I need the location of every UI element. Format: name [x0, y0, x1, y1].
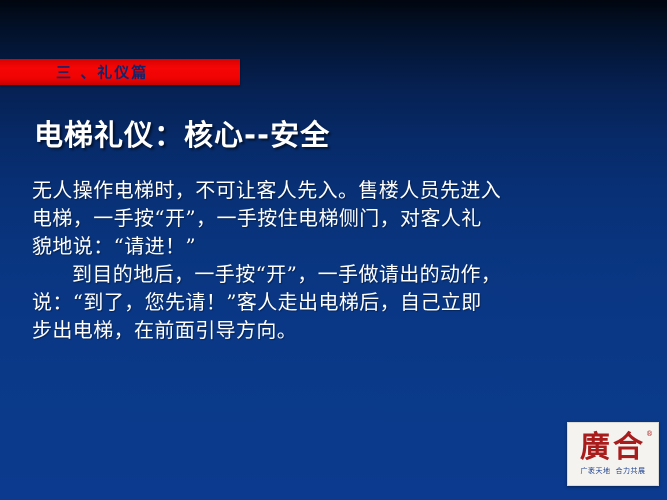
section-banner-label: 三 、礼仪篇 [56, 62, 148, 83]
body-text: 无人操作电梯时，不可让客人先入。售楼人员先进入 电梯，一手按“开”，一手按住电梯… [32, 176, 644, 344]
logo-wordmark: 廣合 ® [580, 432, 646, 464]
page-title: 电梯礼仪：核心--安全 [34, 112, 330, 154]
logo-wordmark-text: 廣合 [580, 430, 646, 465]
body-line: 到目的地后，一手按“开”，一手做请出的动作， [32, 260, 644, 288]
body-line: 貌地说：“请进！” [32, 232, 644, 260]
body-line: 步出电梯，在前面引导方向。 [32, 316, 644, 344]
company-logo: 廣合 ® 广袤天地合力共展 [567, 422, 659, 486]
logo-tagline-right: 合力共展 [616, 467, 646, 475]
body-line: 说：“到了，您先请！”客人走出电梯后，自己立即 [32, 288, 644, 316]
logo-tagline-left: 广袤天地 [581, 467, 611, 475]
registered-trademark-icon: ® [646, 431, 653, 438]
presentation-slide: 三 、礼仪篇 电梯礼仪：核心--安全 无人操作电梯时，不可让客人先入。售楼人员先… [0, 0, 667, 500]
body-line: 电梯，一手按“开”，一手按住电梯侧门，对客人礼 [32, 204, 644, 232]
body-line: 无人操作电梯时，不可让客人先入。售楼人员先进入 [32, 176, 644, 204]
logo-tagline: 广袤天地合力共展 [581, 467, 646, 476]
section-banner: 三 、礼仪篇 [0, 59, 240, 85]
